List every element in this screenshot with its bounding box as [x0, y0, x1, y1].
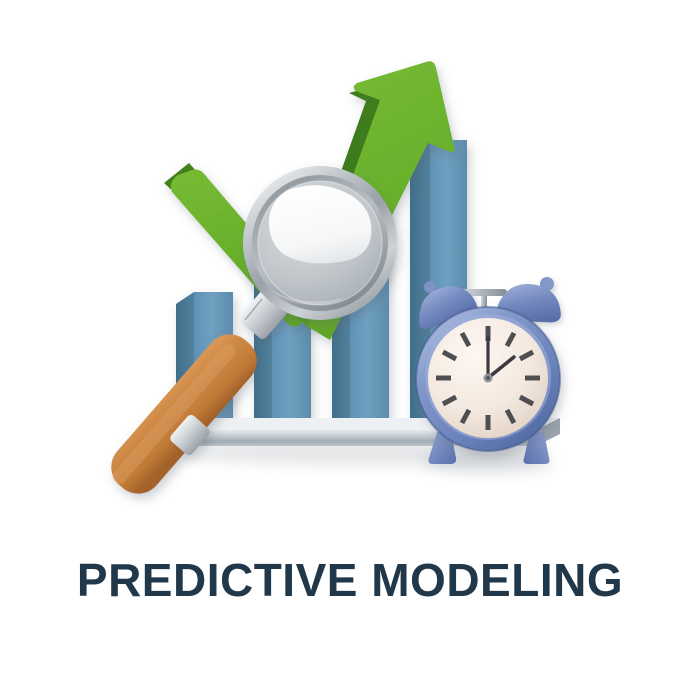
icon-canvas: PREDICTIVE MODELING: [0, 0, 700, 700]
alarm-clock: [414, 277, 564, 464]
predictive-modeling-illustration: [0, 0, 700, 520]
page-title-wrap: PREDICTIVE MODELING: [0, 552, 700, 608]
magnifier-lens: [243, 166, 397, 320]
page-title: PREDICTIVE MODELING: [0, 552, 700, 608]
clock-face: [428, 318, 548, 438]
